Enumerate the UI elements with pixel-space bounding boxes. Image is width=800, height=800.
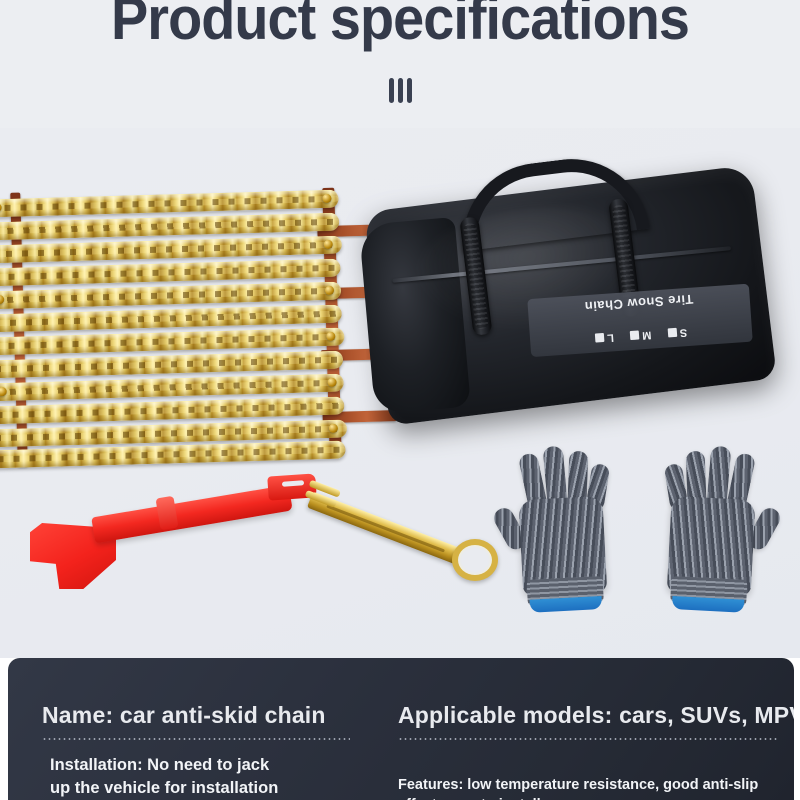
carry-bag: Tire Snow Chain S M L [341, 128, 794, 474]
bag-size-s: S [667, 326, 687, 339]
applicable-models-line: Applicable models: cars, SUVs, MPVs, etc [398, 702, 794, 729]
product-photo: Tire Snow Chain S M L [0, 128, 800, 658]
divider-dotted-right [398, 738, 778, 740]
product-name-line: Name: car anti-skid chain [42, 702, 326, 729]
header-banner: Product specifications [0, 0, 800, 128]
features-line: Features: low temperature resistance, go… [398, 775, 758, 800]
divider-dotted-left [42, 738, 350, 740]
red-scraper-tool [30, 483, 310, 593]
bag-size-m: M [630, 329, 652, 342]
product-specification-page: Product specifications [0, 0, 800, 800]
installation-line: Installation: No need to jack up the veh… [50, 754, 278, 800]
gold-tensioner-tool [310, 483, 500, 578]
bag-size-l: L [595, 331, 615, 344]
page-title: Product specifications [28, 0, 772, 53]
work-gloves [492, 428, 792, 618]
glove-right [640, 443, 785, 618]
divider-mark-icon [0, 78, 800, 103]
spec-column-left: Name: car anti-skid chain Installation: … [40, 658, 380, 800]
snow-chain-assembly [0, 182, 398, 469]
glove-left [490, 443, 635, 618]
specification-panel: Name: car anti-skid chain Installation: … [8, 658, 794, 800]
spec-column-right: Applicable models: cars, SUVs, MPVs, etc… [398, 658, 778, 800]
